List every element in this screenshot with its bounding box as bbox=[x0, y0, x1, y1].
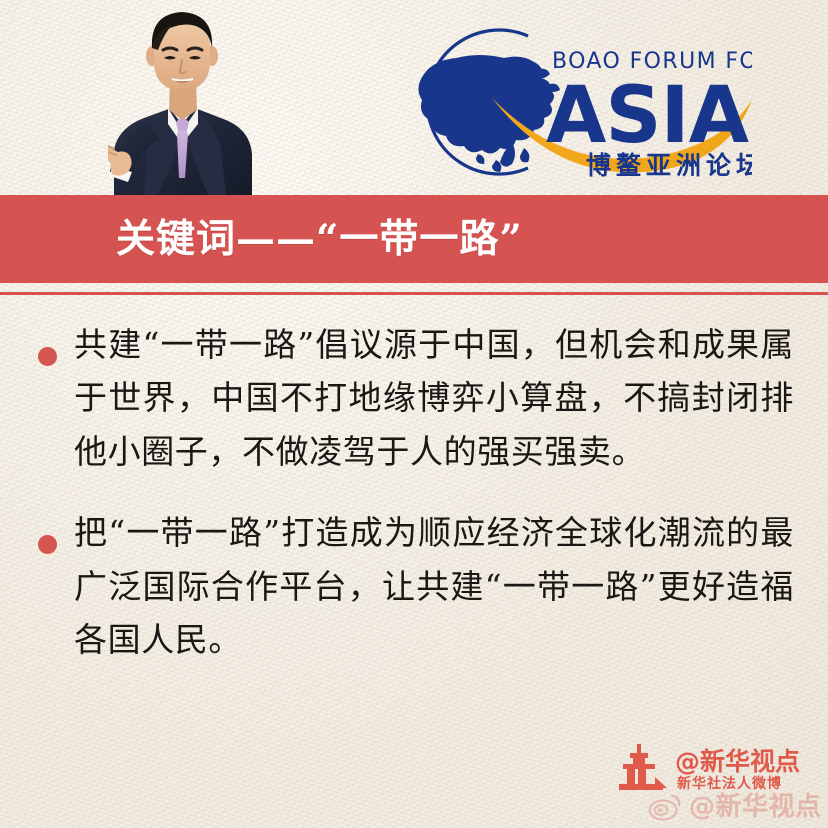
title-banner: 关键词——“一带一路” bbox=[0, 195, 828, 283]
page-title: 关键词——“一带一路” bbox=[116, 220, 523, 259]
list-item: 把“一带一路”打造成为顺应经济全球化潮流的最广泛国际合作平台，让共建“一带一路”… bbox=[0, 506, 828, 666]
banner-divider-rule bbox=[0, 292, 828, 295]
xinhua-weibo-logo: @新华视点 新华社法人微博 bbox=[617, 744, 817, 792]
bullet-text: 把“一带一路”打造成为顺应经济全球化潮流的最广泛国际合作平台，让共建“一带一路”… bbox=[74, 506, 794, 666]
weibo-handle: @新华视点 bbox=[689, 794, 822, 820]
xi-jinping-portrait bbox=[108, 0, 256, 195]
svg-text:ASIA: ASIA bbox=[546, 71, 749, 161]
weibo-watermark: @新华视点 bbox=[648, 789, 828, 825]
svg-text:@新华视点: @新华视点 bbox=[675, 747, 800, 776]
poster-canvas: BOAO FORUM FOR ASIA 博鳌亚洲论坛 关键词——“一带一路” 共… bbox=[0, 0, 828, 828]
list-item: 共建“一带一路”倡议源于中国，但机会和成果属于世界，中国不打地缘博弈小算盘，不搞… bbox=[0, 318, 828, 478]
bullet-list: 共建“一带一路”倡议源于中国，但机会和成果属于世界，中国不打地缘博弈小算盘，不搞… bbox=[0, 318, 828, 695]
bullet-dot-icon bbox=[38, 347, 57, 366]
header: BOAO FORUM FOR ASIA 博鳌亚洲论坛 bbox=[0, 0, 828, 195]
bullet-text: 共建“一带一路”倡议源于中国，但机会和成果属于世界，中国不打地缘博弈小算盘，不搞… bbox=[74, 318, 794, 478]
weibo-eye-icon bbox=[648, 793, 682, 821]
bullet-dot-icon bbox=[38, 535, 57, 554]
svg-text:博鳌亚洲论坛: 博鳌亚洲论坛 bbox=[586, 151, 752, 180]
boao-forum-for-asia-logo: BOAO FORUM FOR ASIA 博鳌亚洲论坛 bbox=[400, 22, 752, 182]
